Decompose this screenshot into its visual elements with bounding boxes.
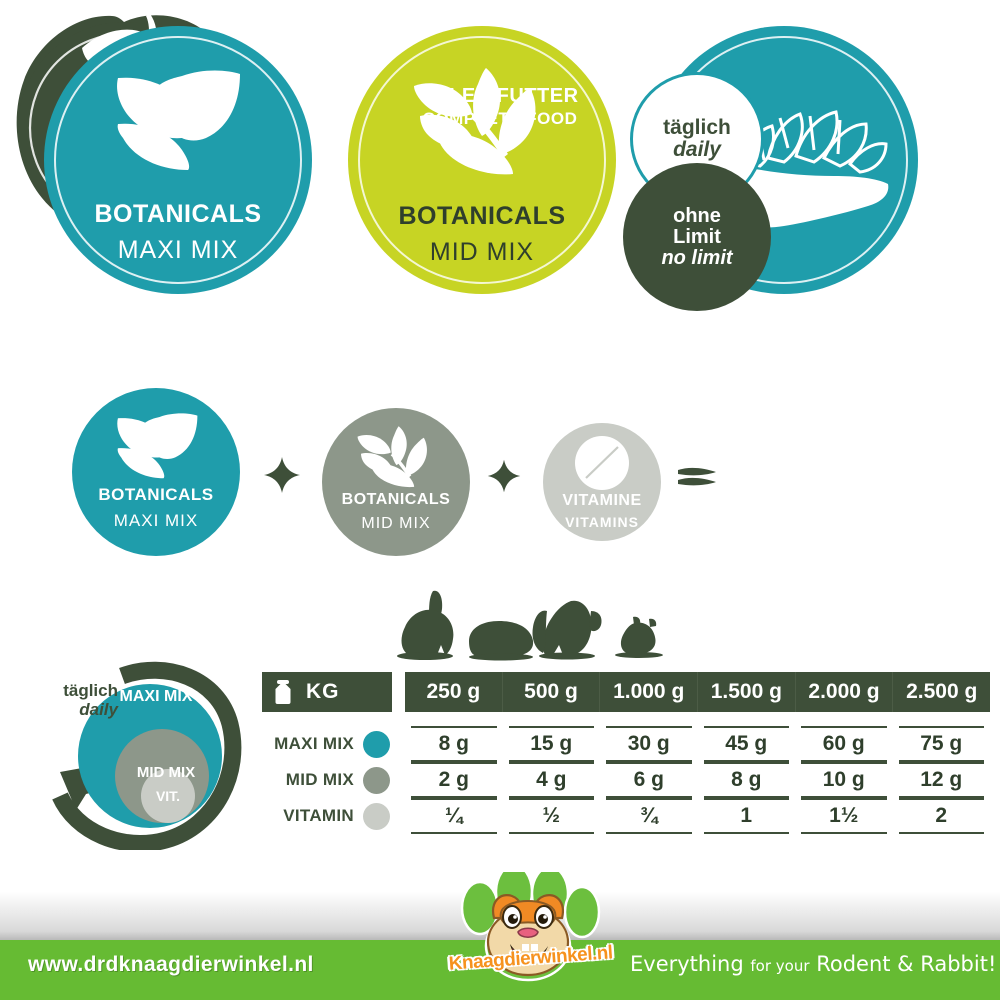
table-col-header: 500 g [503, 672, 601, 712]
chinchilla-icon [532, 601, 601, 660]
table-col-header: 250 g [405, 672, 503, 712]
footer-tagline-part-1: Everything [630, 952, 744, 976]
table-cell: ¼ [411, 798, 497, 834]
table-header-kg-label: KG [306, 680, 340, 704]
cycle-ring-mid-label: MID MIX [118, 764, 214, 781]
pill-icon [574, 435, 630, 491]
table-row-label-cell: MAXI MIX [262, 731, 392, 758]
equals-operator-icon [676, 462, 718, 492]
badge-title: BOTANICALS [44, 202, 312, 227]
formula-badge-mid-mix: BOTANICALS MID MIX [322, 408, 470, 556]
maxi-mix-dot-icon [363, 731, 390, 758]
cycle-label: täglich daily [26, 682, 118, 719]
cycle-label-de: täglich [26, 682, 118, 701]
table-row-label: MAXI MIX [274, 734, 354, 754]
formula-badge-maxi-mix: BOTANICALS MAXI MIX [72, 388, 240, 556]
badge-subtitle: MAXI MIX [72, 512, 240, 529]
guinea-pig-icon [469, 621, 533, 661]
badge-botanicals-maxi-mix: BOTANICALS MAXI MIX [44, 26, 312, 294]
bubble-nolimit-de2: Limit [673, 227, 721, 248]
table-cell: 1 [704, 798, 790, 834]
table-cell: 2 [899, 798, 985, 834]
table-cell: 8 g [411, 726, 497, 762]
bubble-nolimit-de1: ohne [673, 206, 721, 227]
table-col-header: 1.500 g [698, 672, 796, 712]
table-row: MAXI MIX 8 g 15 g 30 g 45 g 60 g 75 g [262, 726, 990, 762]
table-cell: 75 g [899, 726, 985, 762]
table-header-values: 250 g 500 g 1.000 g 1.500 g 2.000 g 2.50… [405, 672, 990, 712]
table-row: MID MIX 2 g 4 g 6 g 8 g 10 g 12 g [262, 762, 990, 798]
vitamin-dot-icon [363, 803, 390, 830]
footer-website-link[interactable]: www.drdknaagdierwinkel.nl [28, 953, 314, 977]
table-row: VITAMIN ¼ ½ ¾ 1 1½ 2 [262, 798, 990, 834]
bubble-no-limit: ohne Limit no limit [623, 163, 771, 311]
table-cell: 8 g [704, 762, 790, 798]
two-leaf-icon [114, 410, 200, 480]
cycle-ring-maxi-label: MAXI MIX [108, 688, 204, 706]
badge-botanicals-mid-mix: BOTANICALS MID MIX [348, 26, 616, 294]
table-row-label: VITAMIN [283, 806, 354, 826]
table-row-values: 2 g 4 g 6 g 8 g 10 g 12 g [405, 762, 990, 798]
table-header-kg-cell: KG [262, 672, 392, 712]
hamster-icon [615, 617, 663, 658]
table-cell: 10 g [801, 762, 887, 798]
bubble-daily-en: daily [673, 139, 721, 161]
badge-subtitle: MAXI MIX [44, 238, 312, 263]
plus-operator-icon [262, 455, 302, 495]
table-cell: 45 g [704, 726, 790, 762]
badge-title: BOTANICALS [72, 486, 240, 503]
badge-subtitle: COMPLETE FOOD [0, 110, 1000, 127]
table-cell: 1½ [801, 798, 887, 834]
badge-subtitle: MID MIX [322, 516, 470, 532]
footer-tagline: Everything for your Rodent & Rabbit! [630, 952, 996, 976]
badge-subtitle: MID MIX [348, 240, 616, 265]
branch-leaf-icon [354, 424, 440, 488]
bubble-nolimit-en: no limit [661, 248, 732, 269]
table-cell: 6 g [606, 762, 692, 798]
infographic-canvas: BOTANICALS MAXI MIX BOTANICALS MID MIX [0, 0, 1000, 1000]
table-cell: ¾ [606, 798, 692, 834]
cycle-label-en: daily [26, 701, 118, 720]
footer-tagline-part-3: Rodent & Rabbit! [816, 952, 996, 976]
badge-subtitle: VITAMINS [543, 515, 661, 529]
badge-title: VITAMINE [543, 493, 661, 509]
badge-title: BOTANICALS [322, 492, 470, 508]
table-cell: 30 g [606, 726, 692, 762]
animal-silhouettes [395, 587, 685, 667]
badge-title: ALLEINFUTTER [0, 86, 1000, 106]
rabbit-icon [397, 591, 453, 660]
table-row-values: ¼ ½ ¾ 1 1½ 2 [405, 798, 990, 834]
table-cell: 12 g [899, 762, 985, 798]
footer-tagline-part-2: for your [750, 957, 809, 975]
table-row-values: 8 g 15 g 30 g 45 g 60 g 75 g [405, 726, 990, 762]
table-col-header: 2.000 g [796, 672, 894, 712]
badge-title: BOTANICALS [348, 204, 616, 229]
table-row-label: MID MIX [286, 770, 354, 790]
table-cell: ½ [509, 798, 595, 834]
feeding-table: KG 250 g 500 g 1.000 g 1.500 g 2.000 g 2… [262, 672, 990, 834]
table-cell: 15 g [509, 726, 595, 762]
formula-badge-vitamins: VITAMINE VITAMINS [543, 423, 661, 541]
table-col-header: 2.500 g [893, 672, 990, 712]
table-row-label-cell: MID MIX [262, 767, 392, 794]
table-cell: 60 g [801, 726, 887, 762]
table-header-row: KG 250 g 500 g 1.000 g 1.500 g 2.000 g 2… [262, 672, 990, 712]
cycle-ring-vit-label: VIT. [138, 788, 198, 804]
weight-icon [272, 679, 294, 705]
table-cell: 4 g [509, 762, 595, 798]
table-row-label-cell: VITAMIN [262, 803, 392, 830]
table-cell: 2 g [411, 762, 497, 798]
plus-operator-icon [486, 458, 522, 494]
bubble-daily-de: täglich [663, 117, 731, 139]
mid-mix-dot-icon [363, 767, 390, 794]
table-col-header: 1.000 g [600, 672, 698, 712]
